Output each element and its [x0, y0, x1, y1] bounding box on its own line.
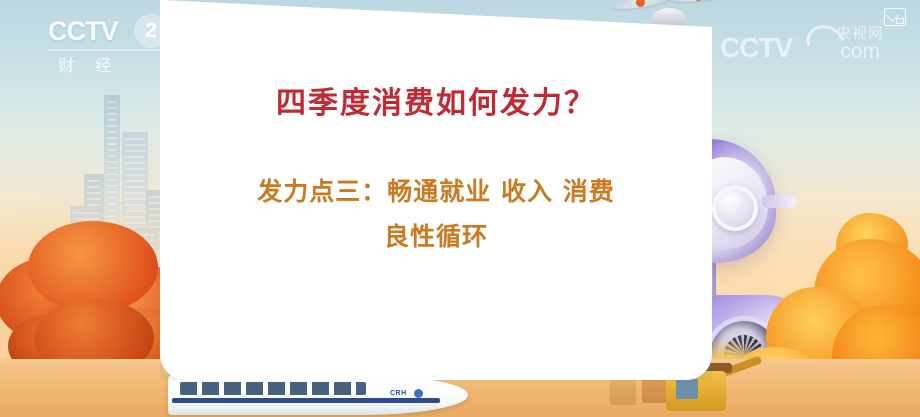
content-card-text-block: 四季度消费如何发力？ 发力点三：畅通就业 收入 消费 良性循环	[160, 0, 712, 259]
watermark-domain: com	[840, 40, 880, 64]
page-title: 四季度消费如何发力？	[160, 78, 712, 122]
site-watermark: CCTV 央视网 com	[720, 18, 890, 66]
broadcast-frame: AI CRH	[0, 0, 920, 417]
high-speed-train-illustration: CRH	[168, 375, 468, 415]
channel-logo: CCTV 2 财 经	[48, 18, 158, 80]
pip-inner-frame	[896, 18, 904, 24]
train-crh-label: CRH	[390, 390, 407, 397]
picture-in-picture-icon[interactable]	[884, 8, 906, 26]
subtitle-line-2: 良性循环	[160, 215, 712, 260]
subtitle-line-1: 发力点三：畅通就业 收入 消费	[160, 170, 712, 215]
watermark-brand: CCTV	[720, 34, 792, 62]
channel-logo-underline	[48, 49, 160, 51]
channel-number-badge: 2	[134, 14, 168, 48]
channel-logo-subtitle: 财 经	[58, 52, 158, 76]
